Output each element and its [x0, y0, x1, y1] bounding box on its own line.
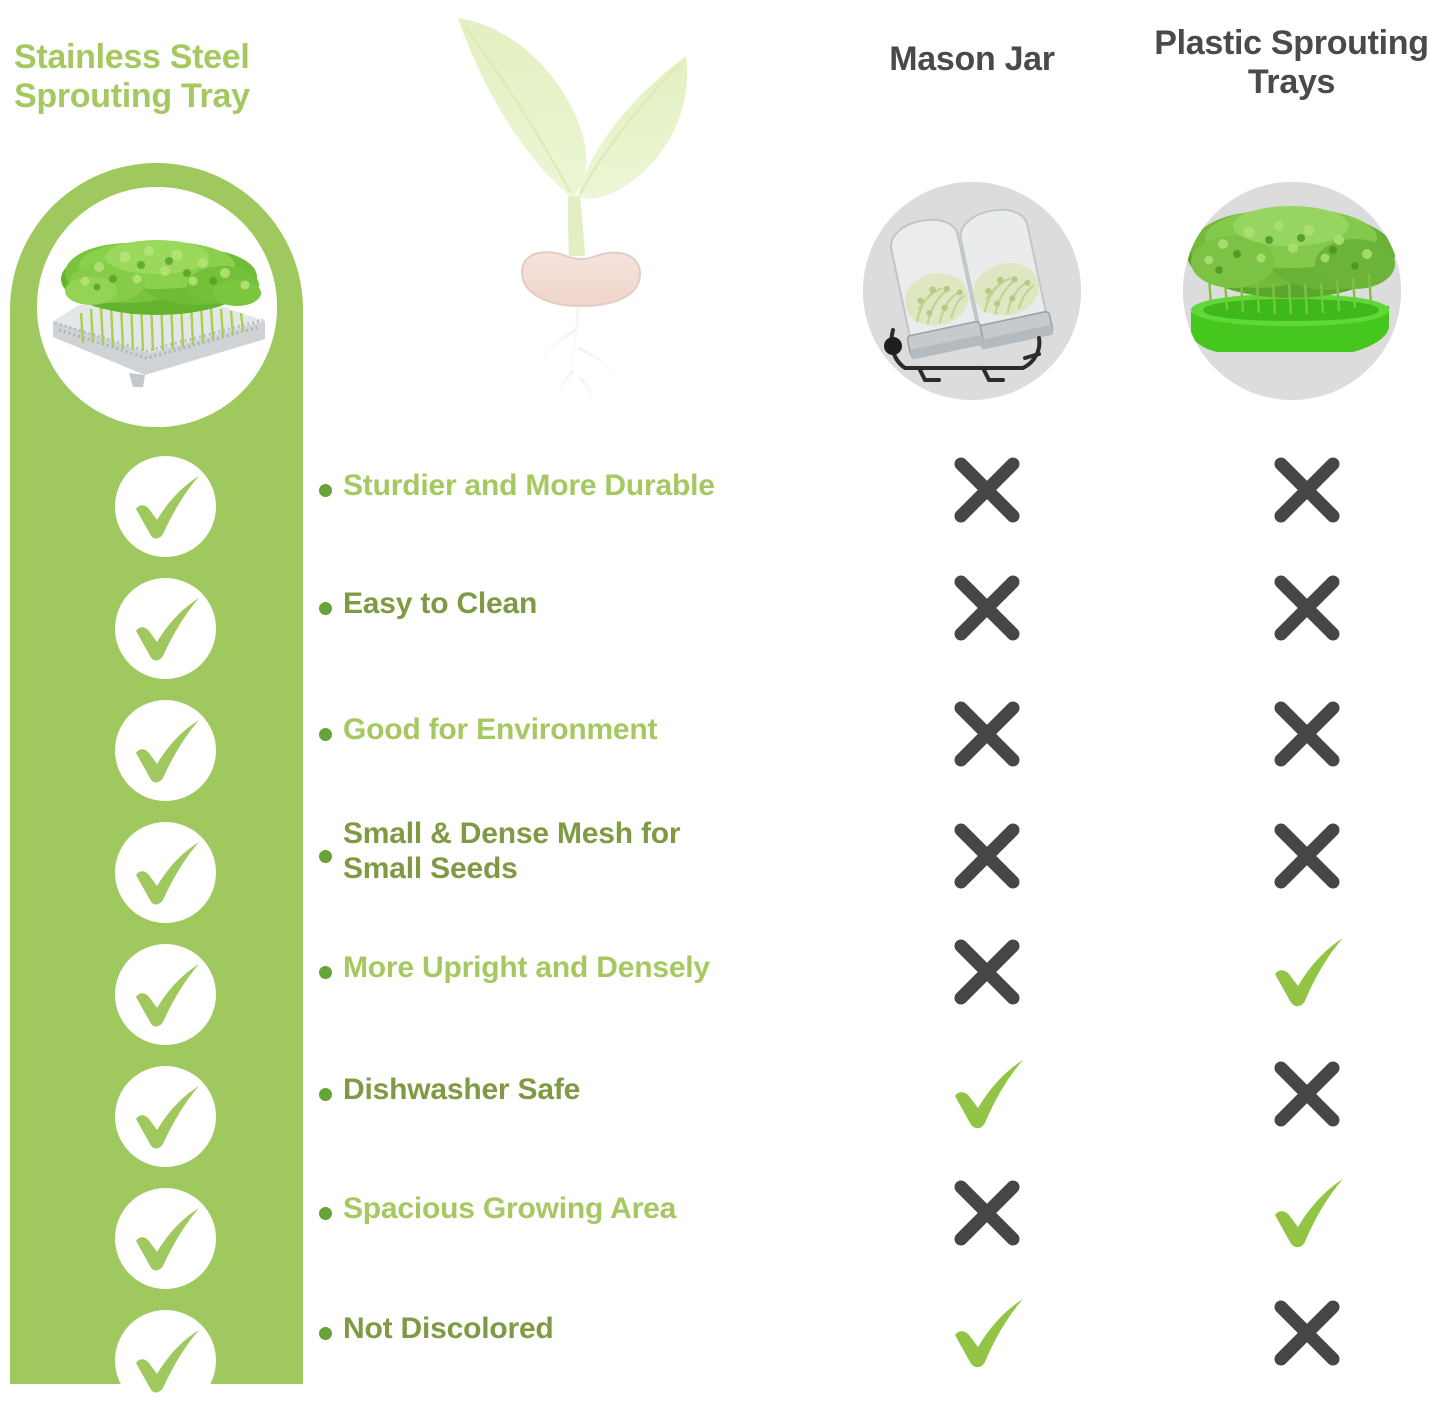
- feature-label-line: Small & Dense Mesh for: [343, 816, 903, 851]
- panel-check-circle-4: [115, 822, 216, 923]
- stainless-steel-feature-panel: [10, 163, 303, 1384]
- check-icon: [129, 472, 203, 542]
- feature-label-line: Spacious Growing Area: [343, 1192, 676, 1225]
- feature-label-line: Good for Environment: [343, 713, 657, 746]
- feature-label: Sturdier and More Durable: [343, 468, 903, 503]
- mark-mason-jar: [947, 568, 1027, 648]
- mark-mason-jar: [947, 1173, 1027, 1253]
- cross-icon: [1267, 694, 1347, 774]
- plastic-tray-photo: [1183, 182, 1401, 400]
- feature-label: Small & Dense Mesh for Small Seeds: [343, 816, 903, 887]
- comparison-row: Not Discolored: [315, 1333, 1435, 1334]
- mark-mason-jar: [947, 816, 1027, 896]
- check-icon: [1267, 932, 1347, 1012]
- comparison-row: Sturdier and More Durable: [315, 490, 1435, 491]
- feature-label: Easy to Clean: [343, 586, 903, 621]
- check-icon: [129, 960, 203, 1030]
- cross-icon: [947, 932, 1027, 1012]
- mark-mason-jar: [947, 450, 1027, 530]
- mark-plastic-trays: [1267, 450, 1347, 530]
- feature-label-line: Sturdier and More Durable: [343, 469, 715, 502]
- mark-plastic-trays: [1267, 1293, 1347, 1373]
- bullet-icon: [319, 850, 332, 863]
- feature-label-line: Not Discolored: [343, 1312, 554, 1345]
- feature-label: Spacious Growing Area: [343, 1191, 903, 1226]
- mason-jar-photo: [863, 182, 1081, 400]
- feature-label: Not Discolored: [343, 1311, 903, 1346]
- mark-plastic-trays: [1267, 568, 1347, 648]
- left-column-title: Stainless Steel Sprouting Tray: [14, 38, 334, 117]
- comparison-row: Easy to Clean: [315, 608, 1435, 609]
- feature-label: Good for Environment: [343, 712, 903, 747]
- mark-mason-jar: [947, 1293, 1027, 1373]
- check-icon: [1267, 1173, 1347, 1253]
- comparison-row: Spacious Growing Area: [315, 1213, 1435, 1214]
- cross-icon: [947, 1173, 1027, 1253]
- cross-icon: [947, 568, 1027, 648]
- mason-jar-photo-circle: [863, 182, 1081, 400]
- mark-plastic-trays: [1267, 1173, 1347, 1253]
- check-icon: [129, 1326, 203, 1396]
- bullet-icon: [319, 1088, 332, 1101]
- cross-icon: [1267, 450, 1347, 530]
- feature-label-line: More Upright and Densely: [343, 951, 710, 984]
- panel-check-circle-2: [115, 578, 216, 679]
- comparison-row: More Upright and Densely: [315, 972, 1435, 973]
- comparison-row: Good for Environment: [315, 734, 1435, 735]
- feature-label-line: Dishwasher Safe: [343, 1073, 580, 1106]
- bullet-icon: [319, 728, 332, 741]
- cross-icon: [1267, 1054, 1347, 1134]
- column-header-mason-jar: Mason Jar: [822, 40, 1122, 79]
- cross-icon: [1267, 816, 1347, 896]
- stainless-tray-photo-circle: [37, 187, 277, 427]
- cross-icon: [947, 694, 1027, 774]
- column-header-plastic-trays-text: Plastic Sprouting Trays: [1154, 24, 1429, 101]
- feature-label: Dishwasher Safe: [343, 1072, 903, 1107]
- comparison-row: Dishwasher Safe: [315, 1094, 1435, 1095]
- cross-icon: [1267, 568, 1347, 648]
- bullet-icon: [319, 1207, 332, 1220]
- check-icon: [947, 1054, 1027, 1134]
- bullet-icon: [319, 966, 332, 979]
- mark-mason-jar: [947, 694, 1027, 774]
- comparison-row: Small & Dense Mesh for Small Seeds: [315, 856, 1435, 857]
- stainless-steel-tray-photo: [37, 187, 277, 427]
- bullet-icon: [319, 602, 332, 615]
- check-icon: [129, 594, 203, 664]
- feature-label-line: Small Seeds: [343, 851, 903, 886]
- bullet-icon: [319, 1327, 332, 1340]
- cross-icon: [1267, 1293, 1347, 1373]
- cross-icon: [947, 816, 1027, 896]
- check-icon: [129, 1082, 203, 1152]
- check-icon: [947, 1293, 1027, 1373]
- mark-plastic-trays: [1267, 816, 1347, 896]
- panel-check-circle-8: [115, 1310, 216, 1411]
- column-header-plastic-trays: Plastic Sprouting Trays: [1138, 24, 1445, 102]
- mark-plastic-trays: [1267, 694, 1347, 774]
- mark-plastic-trays: [1267, 1054, 1347, 1134]
- panel-check-circle-3: [115, 700, 216, 801]
- feature-label: More Upright and Densely: [343, 950, 903, 985]
- sprout-watermark-illustration: [418, 0, 748, 450]
- panel-check-circle-7: [115, 1188, 216, 1289]
- mark-mason-jar: [947, 1054, 1027, 1134]
- bullet-icon: [319, 484, 332, 497]
- cross-icon: [947, 450, 1027, 530]
- panel-check-circle-1: [115, 456, 216, 557]
- check-icon: [129, 716, 203, 786]
- plastic-tray-photo-circle: [1183, 182, 1401, 400]
- panel-check-circle-5: [115, 944, 216, 1045]
- mark-mason-jar: [947, 932, 1027, 1012]
- feature-label-line: Easy to Clean: [343, 587, 537, 620]
- mark-plastic-trays: [1267, 932, 1347, 1012]
- column-header-mason-jar-text: Mason Jar: [889, 40, 1054, 78]
- panel-check-circle-6: [115, 1066, 216, 1167]
- left-column-title-text: Stainless Steel Sprouting Tray: [14, 38, 250, 115]
- check-icon: [129, 838, 203, 908]
- check-icon: [129, 1204, 203, 1274]
